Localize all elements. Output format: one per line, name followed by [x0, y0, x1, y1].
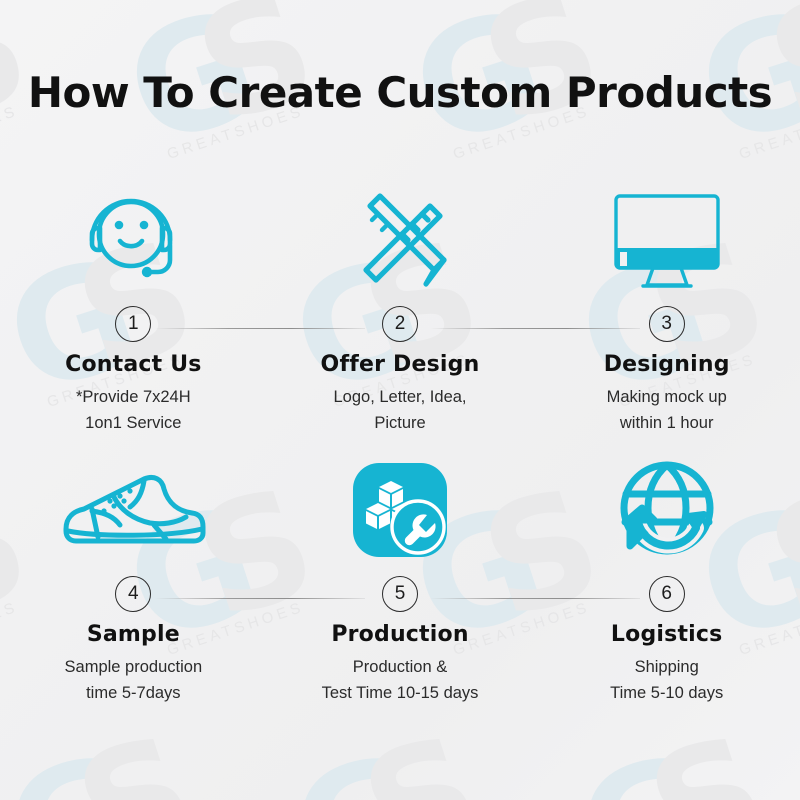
step-number-badge: 5 — [382, 576, 418, 612]
step-description-line-2: Picture — [333, 410, 466, 436]
watermark-logo: GSGREATSHOES — [282, 714, 538, 800]
step-number-badge: 2 — [382, 306, 418, 342]
icon-box — [351, 450, 449, 570]
step-description-line-1: Shipping — [610, 654, 723, 680]
step-title: Production — [331, 622, 468, 647]
step-description: Production & Test Time 10-15 days — [322, 654, 479, 706]
page-title: How To Create Custom Products — [0, 68, 800, 117]
step-title: Sample — [87, 622, 180, 647]
step-description-line-2: time 5-7days — [65, 680, 203, 706]
step-description-line-2: Time 5-10 days — [610, 680, 723, 706]
step-number-badge: 1 — [115, 306, 151, 342]
watermark-letter-s: S — [66, 729, 206, 800]
step-title: Designing — [604, 352, 730, 377]
globe-shipping-icon — [616, 460, 718, 560]
step-description-line-1: Logo, Letter, Idea, — [333, 384, 466, 410]
watermark-tile: GSGREATSHOES — [568, 708, 800, 800]
step-description: Making mock up within 1 hour — [607, 384, 727, 436]
step-description-line-2: within 1 hour — [607, 410, 727, 436]
step-description-line-1: Making mock up — [607, 384, 727, 410]
step-number-badge: 6 — [649, 576, 685, 612]
connector-5-6 — [430, 598, 640, 599]
step-description-line-1: *Provide 7x24H — [76, 384, 191, 410]
watermark-tile: GSGREATSHOES — [0, 708, 286, 800]
sneaker-icon — [58, 467, 208, 553]
watermark-logo: GSGREATSHOES — [568, 714, 800, 800]
step-offer-design[interactable]: 2 Offer Design Logo, Letter, Idea, Pictu… — [267, 180, 534, 450]
step-logistics[interactable]: 6 Logistics Shipping Time 5-10 days — [533, 450, 800, 720]
connector-4-5 — [155, 598, 365, 599]
icon-box — [74, 180, 192, 300]
pencil-ruler-icon — [348, 188, 452, 292]
boxes-wrench-icon — [351, 461, 449, 559]
watermark-letter-g: G — [568, 747, 722, 800]
icon-box — [58, 450, 208, 570]
step-title: Offer Design — [321, 352, 480, 377]
step-description-line-2: 1on1 Service — [76, 410, 191, 436]
step-number-badge: 3 — [649, 306, 685, 342]
watermark-tile: GSGREATSHOES — [282, 708, 572, 800]
watermark-letter-g: G — [0, 747, 150, 800]
steps-row-2: 4 Sample Sample production time 5-7days — [0, 450, 800, 720]
watermark-letter-g: G — [282, 747, 436, 800]
step-description: *Provide 7x24H 1on1 Service — [76, 384, 191, 436]
step-contact-us[interactable]: 1 Contact Us *Provide 7x24H 1on1 Service — [0, 180, 267, 450]
watermark-letter-s: S — [638, 729, 778, 800]
headset-smiley-icon — [74, 184, 192, 296]
steps-row-1: 1 Contact Us *Provide 7x24H 1on1 Service — [0, 180, 800, 450]
step-production[interactable]: 5 Production Production & Test Time 10-1… — [267, 450, 534, 720]
watermark-logo: GSGREATSHOES — [0, 714, 252, 800]
icon-box — [609, 180, 725, 300]
monitor-icon — [609, 190, 725, 290]
infographic-canvas: GSGREATSHOESGSGREATSHOESGSGREATSHOESGSGR… — [0, 0, 800, 800]
step-description: Sample production time 5-7days — [65, 654, 203, 706]
icon-box — [616, 450, 718, 570]
connector-2-3 — [430, 328, 640, 329]
step-sample[interactable]: 4 Sample Sample production time 5-7days — [0, 450, 267, 720]
step-title: Logistics — [611, 622, 723, 647]
connector-1-2 — [155, 328, 365, 329]
step-description: Shipping Time 5-10 days — [610, 654, 723, 706]
step-number-badge: 4 — [115, 576, 151, 612]
watermark-letter-s: S — [352, 729, 492, 800]
step-designing[interactable]: 3 Designing Making mock up within 1 hour — [533, 180, 800, 450]
step-description-line-1: Production & — [322, 654, 479, 680]
steps-container: 1 Contact Us *Provide 7x24H 1on1 Service — [0, 180, 800, 720]
icon-box — [348, 180, 452, 300]
step-description: Logo, Letter, Idea, Picture — [333, 384, 466, 436]
step-description-line-2: Test Time 10-15 days — [322, 680, 479, 706]
step-title: Contact Us — [65, 352, 201, 377]
step-description-line-1: Sample production — [65, 654, 203, 680]
